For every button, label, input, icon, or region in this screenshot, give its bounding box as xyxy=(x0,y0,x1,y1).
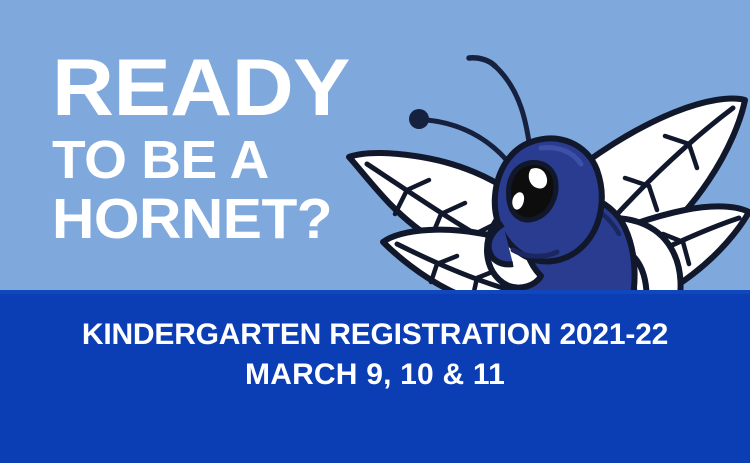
headline-block: READY TO BE A HORNET? xyxy=(52,48,382,248)
headline-line-1: READY xyxy=(52,48,402,129)
headline-line-3: HORNET? xyxy=(52,191,392,248)
banner-line-registration: KINDERGARTEN REGISTRATION 2021-22 xyxy=(0,318,750,352)
banner-line-dates: MARCH 9, 10 & 11 xyxy=(0,358,750,392)
headline-line-2: TO BE A xyxy=(52,133,389,187)
banner-text-block: KINDERGARTEN REGISTRATION 2021-22 MARCH … xyxy=(0,318,750,391)
poster-canvas: B xyxy=(0,0,750,463)
